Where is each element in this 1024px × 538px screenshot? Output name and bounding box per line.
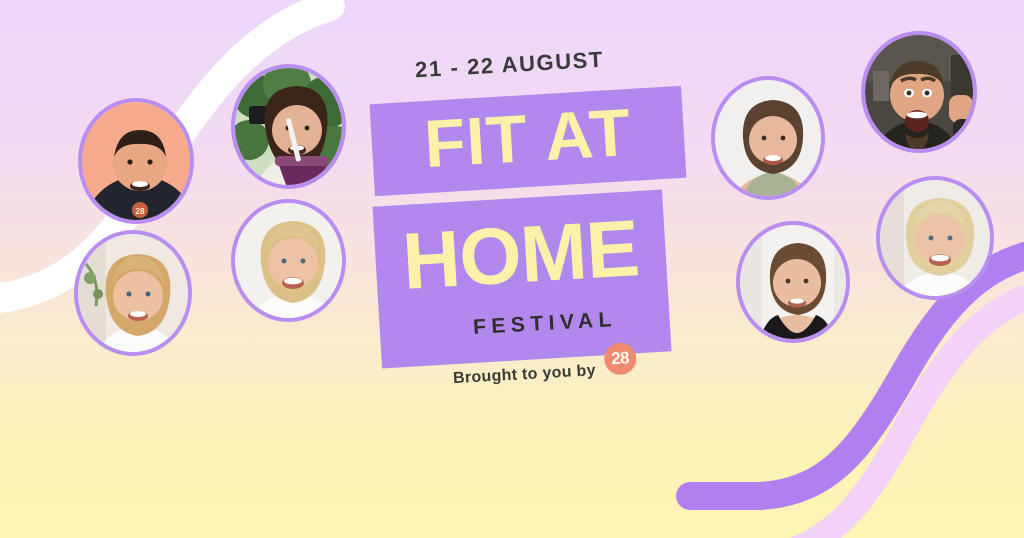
- sponsor-prefix: Brought to you by: [453, 362, 597, 388]
- fit-at-home-festival-banner: 28: [0, 0, 1024, 538]
- title-band-line-1: FIT AT: [370, 86, 687, 196]
- title-line-1: FIT AT: [423, 102, 633, 176]
- avatar-photo: [235, 68, 342, 185]
- avatar-photo: [865, 35, 973, 149]
- avatar-woman-white-top: [876, 176, 994, 300]
- logo-28-icon: 28: [603, 342, 637, 376]
- avatar-woman-sage-bra: [711, 76, 825, 200]
- avatar-woman-white-tank-1: [74, 230, 192, 356]
- svg-text:28: 28: [136, 207, 145, 216]
- avatar-woman-white-tank-2: [231, 199, 346, 322]
- avatar-photo: [715, 80, 821, 196]
- avatar-man-shouting: [861, 31, 977, 153]
- title-line-2: HOME: [401, 211, 641, 298]
- avatar-woman-smoothie: [231, 64, 346, 189]
- avatar-photo: [740, 225, 846, 339]
- avatar-woman-black-bra: [736, 221, 850, 343]
- title-block: 21 - 22 AUGUST FIT AT HOME FESTIVAL Brou…: [355, 40, 685, 370]
- avatar-photo: [78, 234, 188, 352]
- avatar-photo: 28: [82, 102, 190, 220]
- avatar-photo: [235, 203, 342, 318]
- avatar-man-black-tank: 28: [78, 98, 194, 224]
- event-date: 21 - 22 AUGUST: [414, 47, 604, 84]
- avatar-photo: [880, 180, 990, 296]
- title-band-line-2: HOME: [372, 190, 671, 369]
